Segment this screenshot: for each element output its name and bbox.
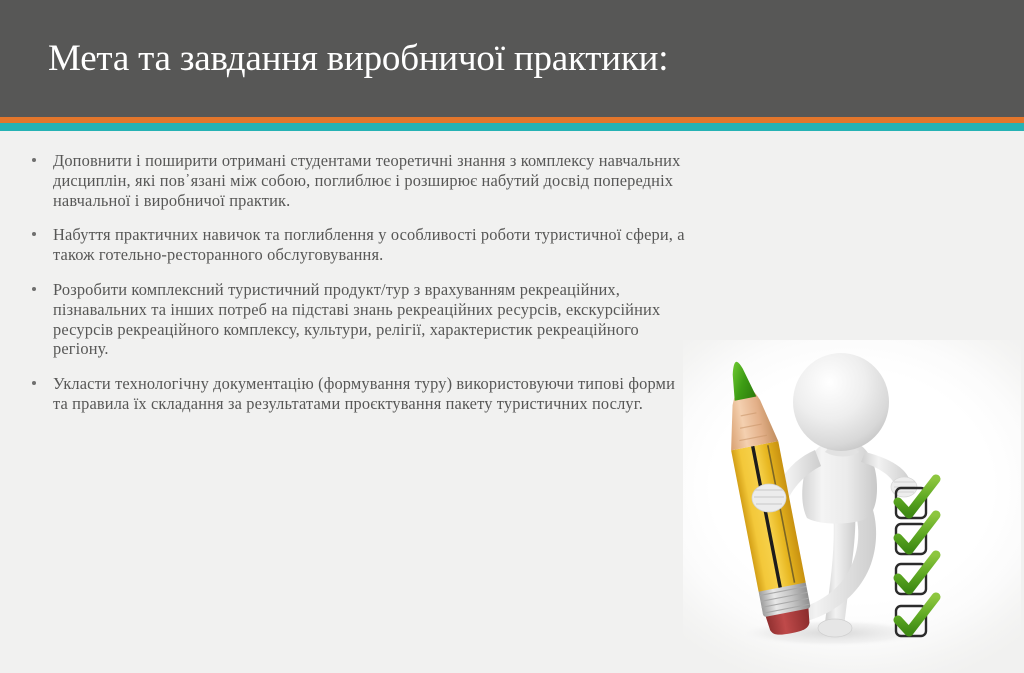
illustration-graphic xyxy=(683,340,1021,673)
page-title: Мета та завдання виробничої практики: xyxy=(48,36,948,82)
bullet-dot-icon xyxy=(32,158,36,162)
pencil-tip xyxy=(727,359,756,400)
figure-head xyxy=(793,353,889,451)
list-item: Доповнити і поширити отримані студентами… xyxy=(26,151,688,210)
accent-stripe-teal xyxy=(0,123,1024,131)
figure-back-foot xyxy=(818,619,852,637)
figure-left-hand xyxy=(752,484,786,512)
checkmark-icon xyxy=(898,597,936,632)
checklist-item xyxy=(896,555,936,594)
bullet-dot-icon xyxy=(32,232,36,236)
bullet-dot-icon xyxy=(32,381,36,385)
list-item-text: Доповнити і поширити отримані студентами… xyxy=(53,151,688,210)
checkmark-icon xyxy=(898,555,936,590)
slide: Мета та завдання виробничої практики: До… xyxy=(0,0,1024,576)
checkmark-icon xyxy=(898,515,936,550)
checklist xyxy=(896,479,936,636)
checklist-item xyxy=(896,515,936,554)
list-item: Укласти технологічну документацію (форму… xyxy=(26,374,688,414)
list-item: Розробити комплексний туристичний продук… xyxy=(26,280,688,359)
bullet-list: Доповнити і поширити отримані студентами… xyxy=(26,151,688,414)
illustration-3d-figure-checklist xyxy=(683,340,1021,673)
list-item: Набуття практичних навичок та поглибленн… xyxy=(26,225,688,265)
list-item-text: Розробити комплексний туристичний продук… xyxy=(53,280,688,359)
checklist-item xyxy=(896,597,936,636)
bullet-dot-icon xyxy=(32,287,36,291)
list-item-text: Укласти технологічну документацію (форму… xyxy=(53,374,688,414)
list-item-text: Набуття практичних навичок та поглибленн… xyxy=(53,225,688,265)
slide-body: Доповнити і поширити отримані студентами… xyxy=(0,131,1024,576)
